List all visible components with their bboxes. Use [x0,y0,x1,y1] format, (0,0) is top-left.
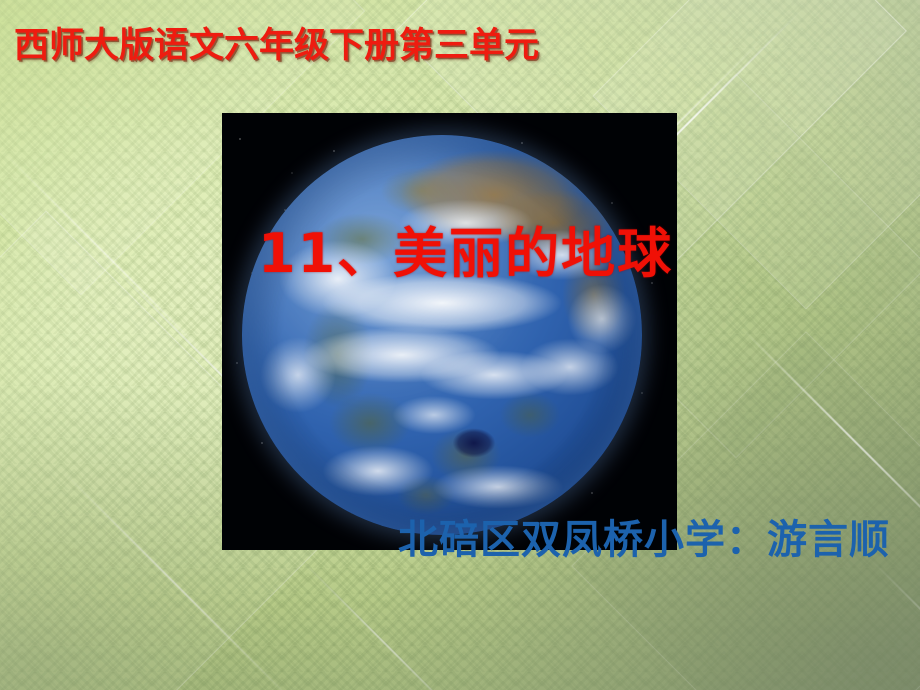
slide-author-credit: 北碚区双凤桥小学：游言顺 [398,519,890,561]
earth-atmosphere-limb [242,135,642,535]
earth-photo [222,113,677,550]
slide-header-title: 西师大版语文六年级下册第三单元 [14,29,539,64]
presentation-slide: 西师大版语文六年级下册第三单元 11、美丽的地球 北碚区双凤桥小学：游言顺 [0,0,920,690]
earth-globe [242,135,642,535]
slide-main-title: 11、美丽的地球 [258,226,673,283]
